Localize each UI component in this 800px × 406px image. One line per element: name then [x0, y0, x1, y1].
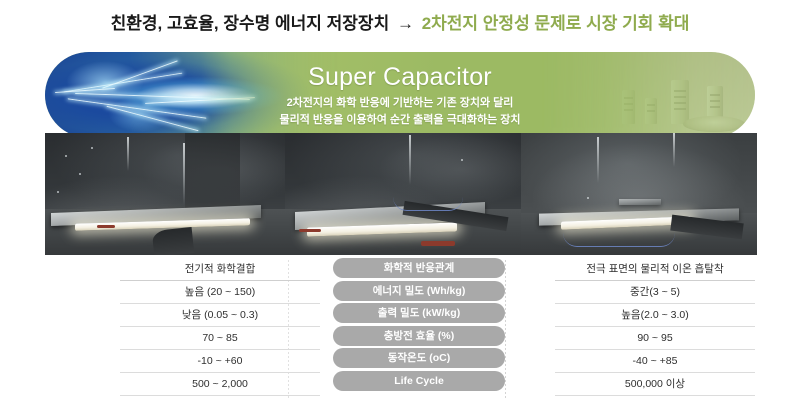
comparison-table: 전기적 화학결합 높음 (20 ~ 150) 낮음 (0.05 ~ 0.3) 7… [45, 258, 757, 404]
table-row: 90 ~ 95 [555, 327, 755, 350]
column-supercapacitor-right: 전극 표면의 물리적 이온 흡탈착 중간(3 ~ 5) 높음(2.0 ~ 3.0… [555, 258, 755, 396]
table-row: 전기적 화학결합 [120, 258, 320, 281]
hero-banner-text: Super Capacitor 2차전지의 화학 반응에 기반하는 기존 장치와… [45, 52, 755, 138]
photo-test-chamber-2 [285, 133, 521, 255]
metric-pill: 출력 밀도 (kW/kg) [333, 303, 505, 323]
page-title-primary: 친환경, 고효율, 장수명 에너지 저장장치 [111, 14, 390, 33]
hero-banner: Super Capacitor 2차전지의 화학 반응에 기반하는 기존 장치와… [45, 52, 755, 138]
column-metric-labels: 화학적 반응관계 에너지 밀도 (Wh/kg) 출력 밀도 (kW/kg) 충방… [333, 258, 505, 394]
table-row: 중간(3 ~ 5) [555, 281, 755, 304]
table-row: 높음(2.0 ~ 3.0) [555, 304, 755, 327]
table-row: -40 ~ +85 [555, 350, 755, 373]
metric-pill: 화학적 반응관계 [333, 258, 505, 278]
table-row: 전극 표면의 물리적 이온 흡탈착 [555, 258, 755, 281]
table-row: 500 ~ 2,000 [120, 373, 320, 396]
metric-pill: 동작온도 (oC) [333, 348, 505, 368]
arrow-icon: → [394, 14, 417, 33]
page-title-highlight: 2차전지 안정성 문제로 시장 기회 확대 [422, 14, 690, 33]
table-row: 낮음 (0.05 ~ 0.3) [120, 304, 320, 327]
metric-pill: Life Cycle [333, 371, 505, 391]
table-row: 높음 (20 ~ 150) [120, 281, 320, 304]
column-supercapacitor-left: 전기적 화학결합 높음 (20 ~ 150) 낮음 (0.05 ~ 0.3) 7… [120, 258, 320, 396]
hero-banner-title: Super Capacitor [308, 62, 492, 92]
table-row: -10 ~ +60 [120, 350, 320, 373]
hero-banner-subtitle-2: 물리적 반응을 이용하여 순간 출력을 극대화하는 장치 [280, 112, 521, 129]
page-title: 친환경, 고효율, 장수명 에너지 저장장치 → 2차전지 안정성 문제로 시장… [0, 13, 800, 35]
metric-pill: 에너지 밀도 (Wh/kg) [333, 281, 505, 301]
photo-test-chamber-3 [521, 133, 757, 255]
hero-banner-subtitle-1: 2차전지의 화학 반응에 기반하는 기존 장치와 달리 [287, 95, 514, 112]
photo-strip [45, 133, 757, 255]
divider-right [505, 260, 506, 398]
photo-test-chamber-1 [45, 133, 285, 255]
table-row: 500,000 이상 [555, 373, 755, 396]
metric-pill: 충방전 효율 (%) [333, 326, 505, 346]
table-row: 70 ~ 85 [120, 327, 320, 350]
